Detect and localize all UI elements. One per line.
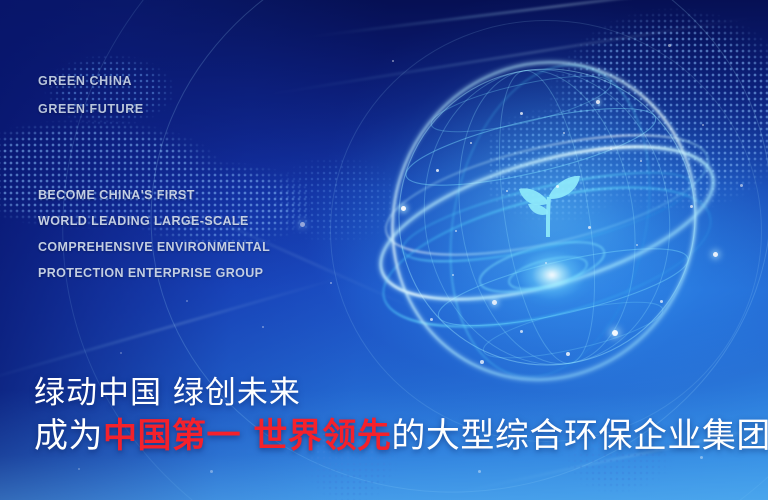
claim-line-2: WORLD LEADING LARGE-SCALE	[38, 214, 249, 228]
headline-line-2: 成为中国第一 世界领先的大型综合环保企业集团	[34, 408, 768, 457]
claim-line-4: PROTECTION ENTERPRISE GROUP	[38, 266, 263, 280]
eyebrow-line-1: GREEN CHINA	[38, 74, 132, 88]
headline-line-1: 绿动中国 绿创未来	[34, 367, 301, 412]
headline-line-2-suffix: 的大型综合环保企业集团	[391, 416, 768, 456]
eyebrow-line-2: GREEN FUTURE	[38, 102, 144, 116]
headline-line-2-prefix: 成为	[34, 416, 103, 456]
claim-line-3: COMPREHENSIVE ENVIRONMENTAL	[38, 240, 270, 254]
headline-highlight: 中国第一 世界领先	[103, 416, 391, 456]
claim-line-1: BECOME CHINA'S FIRST	[38, 188, 195, 202]
promotional-banner: GREEN CHINA GREEN FUTURE BECOME CHINA'S …	[0, 0, 768, 500]
